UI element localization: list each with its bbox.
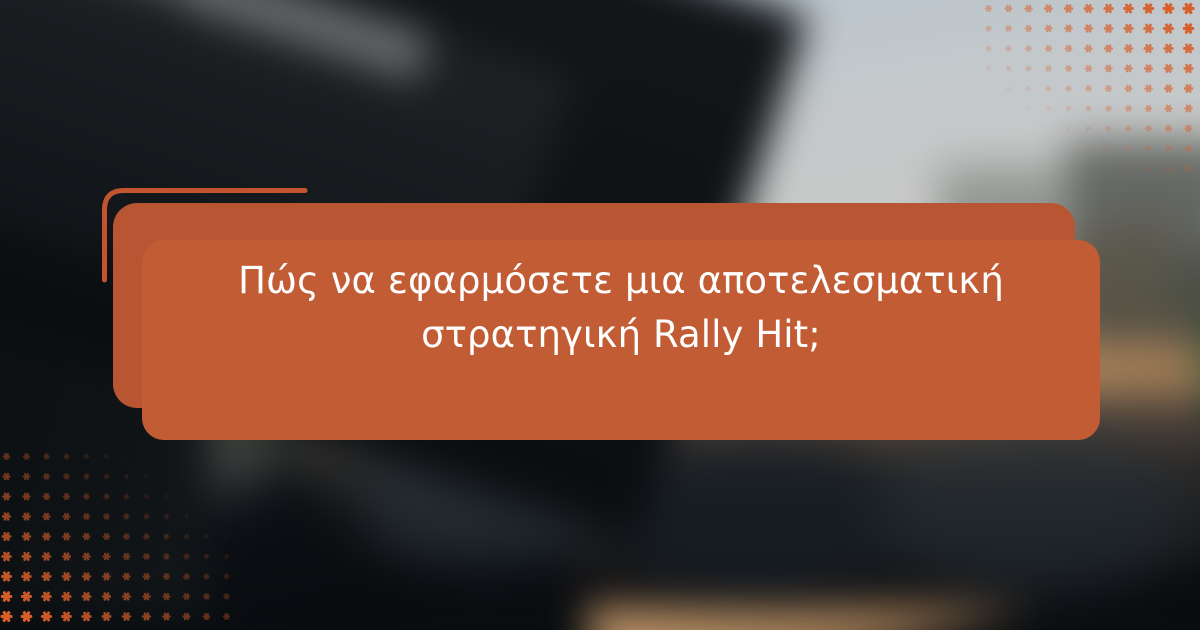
headline-text: Πώς να εφαρμόσετε μια αποτελεσματική στρ… — [142, 254, 1100, 362]
headline-card: Πώς να εφαρμόσετε μια αποτελεσματική στρ… — [142, 240, 1100, 440]
share-card-canvas: Πώς να εφαρμόσετε μια αποτελεσματική στρ… — [0, 0, 1200, 630]
photo-crowd-blob-4 — [876, 426, 1194, 596]
